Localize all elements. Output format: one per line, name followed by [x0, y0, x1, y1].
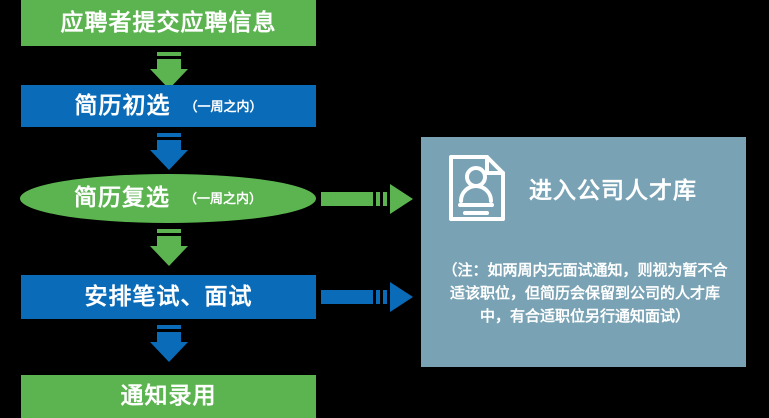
arrow-stem: [157, 59, 181, 69]
arrow-head: [150, 342, 188, 362]
flow-node-screen-first-sublabel: （一周之内）: [184, 101, 262, 114]
document-person-icon: [447, 153, 507, 223]
arrow-down-screen-second-to-exam: [150, 229, 188, 266]
flow-node-offer[interactable]: 通知录用: [21, 375, 316, 418]
arrow-right-exam-to-talent-pool: [321, 282, 413, 312]
flow-node-screen-second-sublabel: （一周之内）: [184, 193, 262, 206]
arrow-down-exam-to-offer: [150, 325, 188, 362]
arrow-shaft: [321, 192, 373, 206]
flow-node-exam-interview-label: 安排笔试、面试: [85, 286, 253, 309]
arrow-tick: [383, 290, 387, 304]
arrow-tick: [376, 192, 380, 206]
arrow-bar: [157, 133, 181, 137]
flow-node-screen-first[interactable]: 简历初选 （一周之内）: [21, 85, 316, 127]
talent-pool-note: （注：如两周内无面试通知，则视为暂不合适该职位，但简历会保留到公司的人才库中，有…: [439, 259, 731, 327]
arrow-bar: [157, 229, 181, 233]
flow-node-exam-interview[interactable]: 安排笔试、面试: [21, 275, 316, 319]
arrow-stem: [157, 236, 181, 246]
flowchart-canvas: 应聘者提交应聘信息 简历初选 （一周之内） 简历复选 （一周之内） 安排笔试、面…: [0, 0, 769, 418]
talent-pool-panel[interactable]: 进入公司人才库 （注：如两周内无面试通知，则视为暂不合适该职位，但简历会保留到公…: [421, 137, 746, 367]
talent-pool-title: 进入公司人才库: [529, 171, 697, 205]
flow-node-offer-label: 通知录用: [121, 385, 217, 408]
flow-node-submit-label: 应聘者提交应聘信息: [61, 12, 277, 35]
arrow-head: [150, 246, 188, 266]
arrow-down-screen-first-to-screen-second: [150, 133, 188, 170]
talent-pool-header: 进入公司人才库: [447, 153, 697, 223]
arrow-tick: [383, 192, 387, 206]
arrow-head: [150, 150, 188, 170]
arrow-tick: [376, 290, 380, 304]
arrow-bar: [157, 52, 181, 56]
arrow-head: [390, 184, 413, 214]
flow-node-screen-second[interactable]: 简历复选 （一周之内）: [20, 174, 316, 223]
flow-node-submit[interactable]: 应聘者提交应聘信息: [21, 0, 316, 46]
flow-node-screen-second-label: 简历复选: [74, 187, 170, 210]
arrow-down-submit-to-screen-first: [150, 52, 188, 89]
arrow-shaft: [321, 290, 373, 304]
flow-node-screen-first-label: 简历初选: [74, 95, 170, 118]
arrow-stem: [157, 140, 181, 150]
arrow-right-screen-second-to-talent-pool: [321, 184, 413, 214]
arrow-bar: [157, 325, 181, 329]
arrow-stem: [157, 332, 181, 342]
arrow-head: [390, 282, 413, 312]
